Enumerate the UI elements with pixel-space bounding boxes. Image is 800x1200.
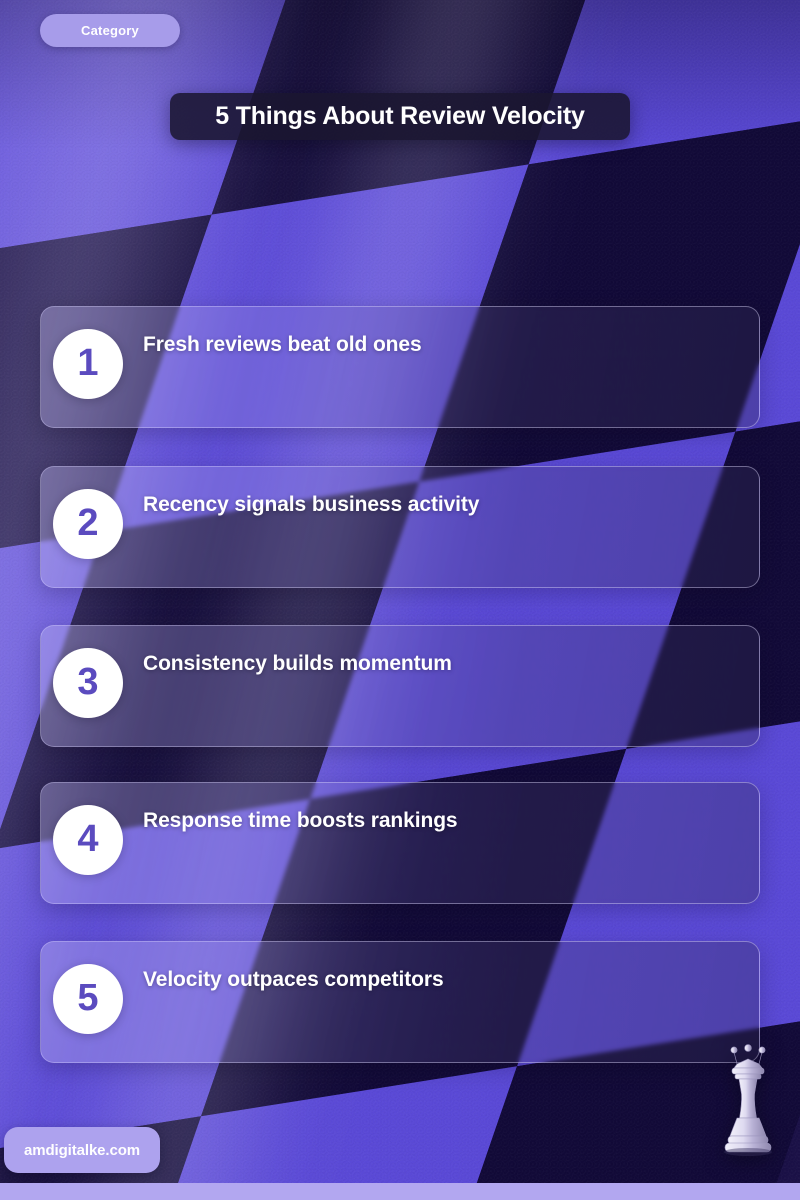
website-badge[interactable]: amdigitalke.com <box>4 1127 160 1173</box>
card-sheen <box>41 783 759 903</box>
item-number: 2 <box>77 504 98 542</box>
item-number-badge: 3 <box>53 648 123 718</box>
list-item[interactable]: 4 Response time boosts rankings <box>40 782 760 904</box>
item-label: Recency signals business activity <box>143 492 733 518</box>
item-number-badge: 1 <box>53 329 123 399</box>
item-number-badge: 4 <box>53 805 123 875</box>
list-item[interactable]: 2 Recency signals business activity <box>40 466 760 588</box>
item-number-badge: 2 <box>53 489 123 559</box>
card-sheen <box>41 467 759 587</box>
card-sheen <box>41 942 759 1062</box>
item-label: Response time boosts rankings <box>143 808 733 834</box>
list-item[interactable]: 1 Fresh reviews beat old ones <box>40 306 760 428</box>
item-number: 4 <box>77 820 98 858</box>
item-label: Consistency builds momentum <box>143 651 733 677</box>
item-label: Velocity outpaces competitors <box>143 967 733 993</box>
list-item[interactable]: 3 Consistency builds momentum <box>40 625 760 747</box>
list-cards: 1 Fresh reviews beat old ones 2 Recency … <box>0 0 800 1200</box>
card-sheen <box>41 307 759 427</box>
card-sheen <box>41 626 759 746</box>
list-item[interactable]: 5 Velocity outpaces competitors <box>40 941 760 1063</box>
item-label: Fresh reviews beat old ones <box>143 332 733 358</box>
item-number-badge: 5 <box>53 964 123 1034</box>
infographic-poster: Category 5 Things About Review Velocity … <box>0 0 800 1200</box>
bottom-accent-bar <box>0 1183 800 1200</box>
item-number: 3 <box>77 663 98 701</box>
item-number: 1 <box>77 344 98 382</box>
item-number: 5 <box>77 979 98 1017</box>
